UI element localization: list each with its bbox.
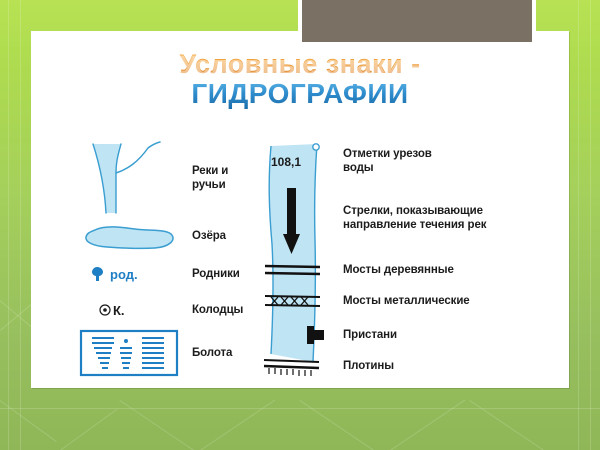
svg-text:108,1: 108,1: [271, 155, 301, 169]
texture-line: [0, 400, 57, 442]
legend-label-metal-bridges: Мосты металлические: [343, 294, 470, 308]
legend-label-water-level-marks: Отметки урезов воды: [343, 147, 432, 176]
texture-line: [469, 400, 544, 450]
texture-line: [299, 400, 374, 450]
title-line-1: Условные знаки -: [0, 50, 600, 79]
marsh-box-symbol: [80, 330, 178, 376]
texture-line: [390, 400, 465, 450]
texture-line: [0, 408, 600, 409]
legend-label-rivers: Реки и ручьи: [192, 164, 228, 193]
lake-blob-symbol: [81, 224, 181, 252]
river-and-stream-symbol: [76, 142, 186, 214]
page-title: Условные знаки - ГИДРОГРАФИИ: [0, 50, 600, 109]
spring-symbol: род.: [90, 264, 154, 284]
legend-label-dams: Плотины: [343, 359, 394, 373]
legend-label-piers: Пристани: [343, 328, 397, 342]
river-strip-diagram: 108,1: [259, 140, 331, 380]
legend-label-wells: Колодцы: [192, 303, 243, 317]
legend-label-marshes: Болота: [192, 346, 232, 360]
svg-text:К.: К.: [113, 303, 125, 318]
legend-label-springs: Родники: [192, 267, 240, 281]
svg-text:род.: род.: [110, 267, 138, 282]
legend-label-lakes: Озёра: [192, 229, 226, 243]
legend-label-wooden-bridges: Мосты деревянные: [343, 263, 454, 277]
texture-line: [119, 400, 194, 450]
legend-label-flow-arrows: Стрелки, показывающие направление течени…: [343, 204, 486, 233]
well-symbol: К.: [98, 300, 154, 320]
texture-line: [200, 400, 275, 450]
texture-line: [60, 409, 117, 450]
legend-right-column: 108,1: [259, 140, 559, 390]
legend: Реки и ручьи Озёра род. Родники: [31, 140, 569, 390]
title-line-2: ГИДРОГРАФИИ: [0, 79, 600, 109]
slide: Условные знаки - ГИДРОГРАФИИ Реки и ручь…: [0, 0, 600, 450]
header-decoration-box: [298, 0, 536, 46]
